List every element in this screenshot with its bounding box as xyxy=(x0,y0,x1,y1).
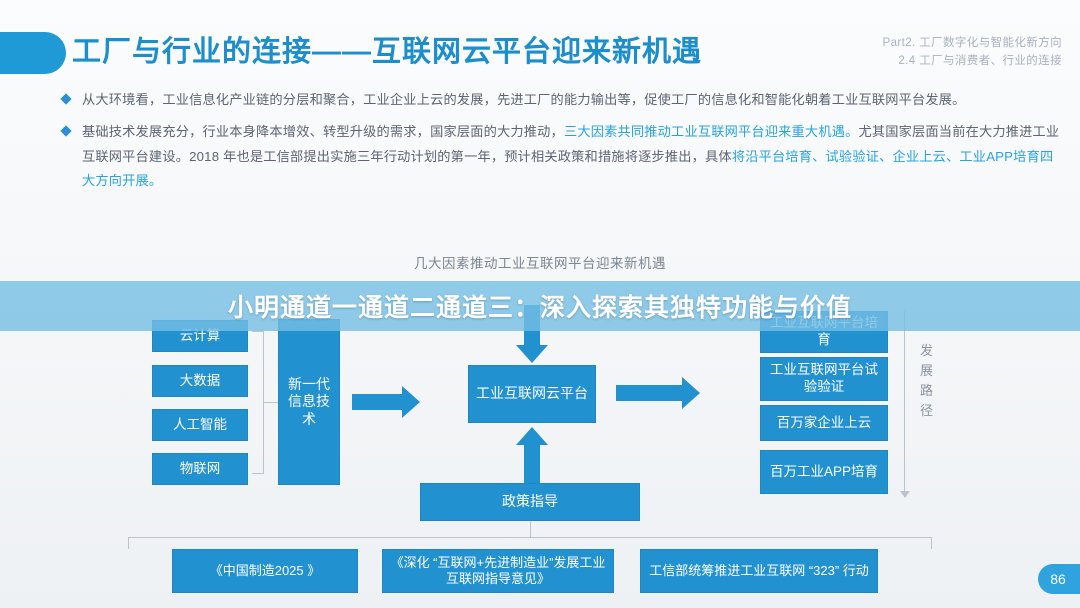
section-breadcrumb: Part2. 工厂数字化与智能化新方向 2.4 工厂与消费者、行业的连接 xyxy=(883,34,1062,71)
left-bracket-stem xyxy=(264,402,278,403)
diamond-bullet-icon xyxy=(60,126,71,137)
breadcrumb-subsection: 2.4 工厂与消费者、行业的连接 xyxy=(883,52,1062,70)
center-box-industrial-internet-platform: 工业互联网云平台 xyxy=(468,365,596,423)
overlay-banner-text: 小明通道一通道二通道三：深入探索其独特功能与价值 xyxy=(228,288,852,324)
right-box-million-industrial-apps: 百万工业APP培育 xyxy=(760,450,888,494)
right-box-platform-validation: 工业互联网平台试验验证 xyxy=(760,357,888,401)
bottom-bracket-connector xyxy=(128,537,932,549)
policy-stem-connector xyxy=(530,521,531,537)
diamond-bullet-icon xyxy=(60,93,71,104)
development-path-arrow-icon xyxy=(900,491,910,498)
page-title: 工厂与行业的连接——互联网云平台迎来新机遇 xyxy=(72,28,702,70)
overlay-banner: 小明通道一通道二通道三：深入探索其独特功能与价值 xyxy=(0,281,1080,331)
bullet-text: 从大环境看，工业信息化产业链的分层和聚合，工业企业上云的发展，先进工厂的能力输出… xyxy=(82,88,1062,112)
bullet-item: 从大环境看，工业信息化产业链的分层和聚合，工业企业上云的发展，先进工厂的能力输出… xyxy=(58,88,1062,112)
development-path-label: 发展路径 xyxy=(918,341,936,422)
aggregate-box-new-gen-it: 新一代信息技术 xyxy=(278,319,340,485)
bullet-text-highlight-a: 三大因素共同推动工业互联网平台迎来重大机遇。 xyxy=(564,124,859,139)
right-box-million-enterprises-cloud: 百万家企业上云 xyxy=(760,405,888,441)
development-path-line xyxy=(904,311,905,493)
left-box-big-data: 大数据 xyxy=(152,365,248,397)
slide-canvas: 工厂与行业的连接——互联网云平台迎来新机遇 Part2. 工厂数字化与智能化新方… xyxy=(0,0,1080,608)
bullet-item: 基础技术发展充分，行业本身降本增效、转型升级的需求，国家层面的大力推动，三大因素… xyxy=(58,120,1062,193)
title-accent-pill xyxy=(0,32,66,74)
bottom-box-miit-323-action: 工信部统筹推进工业互联网 “323” 行动 xyxy=(640,549,878,593)
left-box-iot: 物联网 xyxy=(152,453,248,485)
bullet-text: 基础技术发展充分，行业本身降本增效、转型升级的需求，国家层面的大力推动，三大因素… xyxy=(82,120,1062,193)
bottom-box-made-in-china-2025: 《中国制造2025 》 xyxy=(172,549,358,593)
breadcrumb-part: Part2. 工厂数字化与智能化新方向 xyxy=(883,34,1062,52)
bullet-text-plain-a: 基础技术发展充分，行业本身降本增效、转型升级的需求，国家层面的大力推动， xyxy=(82,124,564,139)
bottom-box-deepen-internet-plus: 《深化 “互联网+先进制造业”发展工业互联网指导意见》 xyxy=(382,549,614,593)
page-number-badge: 86 xyxy=(1038,564,1080,594)
left-box-ai: 人工智能 xyxy=(152,409,248,441)
left-bracket-connector xyxy=(252,331,264,474)
policy-guidance-box: 政策指导 xyxy=(420,483,640,521)
diagram-caption: 几大因素推动工业互联网平台迎来新机遇 xyxy=(0,252,1080,272)
bullet-list: 从大环境看，工业信息化产业链的分层和聚合，工业企业上云的发展，先进工厂的能力输出… xyxy=(58,88,1062,202)
